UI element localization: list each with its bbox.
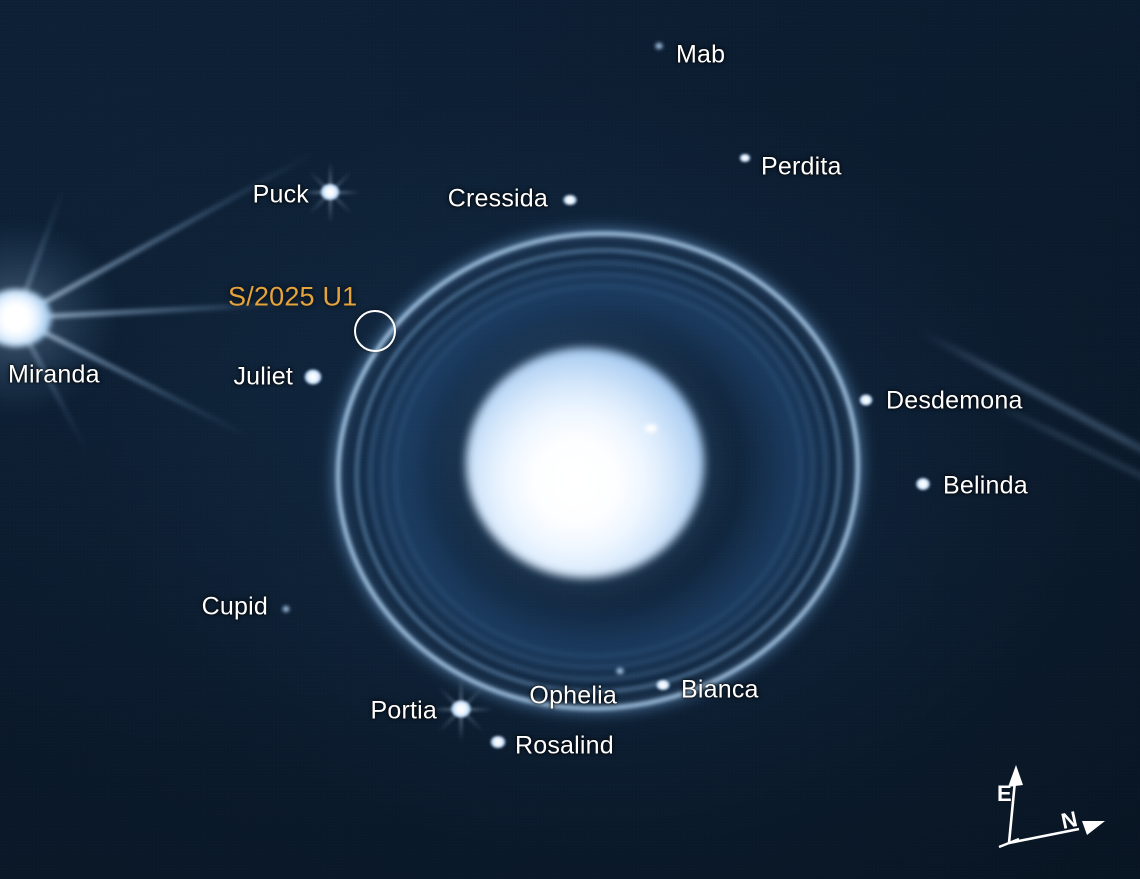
- uranus-disk: [466, 348, 704, 578]
- moon-label-bianca: Bianca: [681, 678, 759, 703]
- compass-north-label: N: [1059, 806, 1080, 834]
- moon-label-mab: Mab: [676, 43, 725, 68]
- moon-label-cupid: Cupid: [202, 595, 268, 620]
- image-canvas: MabPerditaPuckCressidaMirandaJulietDesde…: [0, 0, 1140, 879]
- moon-label-ophelia: Ophelia: [529, 684, 617, 709]
- moon-label-cressida: Cressida: [448, 187, 548, 212]
- moon-label-rosalind: Rosalind: [515, 734, 614, 759]
- moon-label-belinda: Belinda: [943, 474, 1028, 499]
- discovery-label: S/2025 U1: [228, 284, 357, 311]
- compass-rose: E N: [975, 755, 1125, 865]
- moon-label-desdemona: Desdemona: [886, 389, 1023, 414]
- atmospheric-bright-spot: [645, 424, 657, 433]
- compass-north-arrowhead: [1082, 821, 1105, 835]
- compass-east-label: E: [997, 781, 1012, 806]
- moon-label-juliet: Juliet: [233, 365, 293, 390]
- moon-label-perdita: Perdita: [761, 155, 842, 180]
- moon-label-puck: Puck: [253, 183, 309, 208]
- discovery-circle-marker[interactable]: [354, 310, 396, 352]
- moon-label-miranda: Miranda: [8, 363, 100, 388]
- moon-label-portia: Portia: [370, 699, 437, 724]
- compass-svg: E N: [975, 755, 1125, 865]
